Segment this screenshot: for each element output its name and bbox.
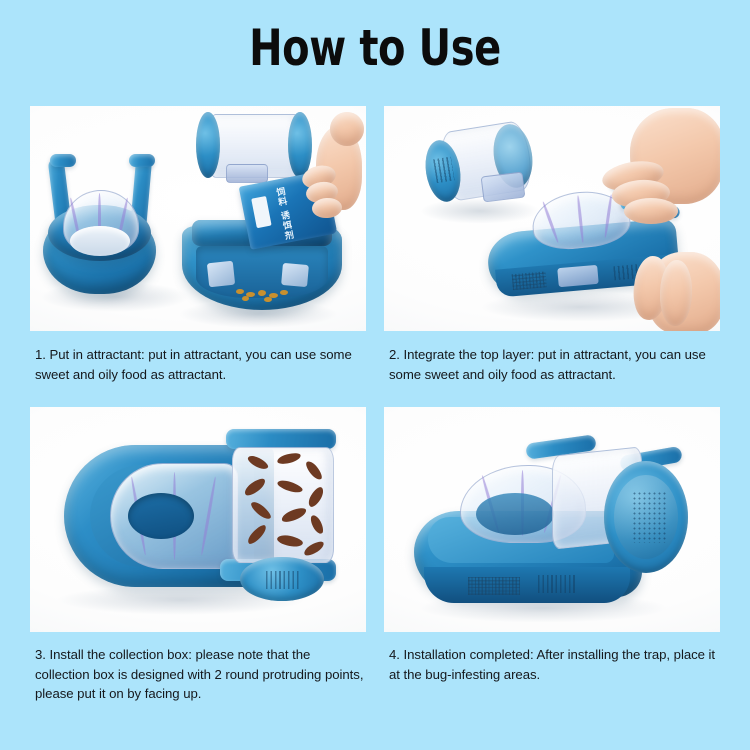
hand-upper-finger-ring — [624, 198, 678, 224]
captured-insect — [302, 539, 326, 558]
vent-slots-icon — [266, 571, 300, 589]
hand-thumb — [330, 112, 364, 146]
bait-tray-divider-right — [281, 263, 309, 287]
page-title: How to Use — [75, 18, 675, 78]
dome-ridge-c — [200, 476, 217, 555]
captured-insect — [249, 499, 273, 521]
collection-clip-top — [226, 429, 336, 449]
dome-ridge-c — [604, 194, 613, 238]
left-base-entry-hole — [70, 226, 130, 256]
captured-insect — [245, 523, 268, 547]
sachet-icon — [251, 196, 271, 228]
step-2-photo — [384, 106, 720, 331]
captured-insect — [276, 451, 301, 466]
captured-insect — [309, 514, 326, 536]
entry-hole — [476, 493, 554, 535]
step-item-4: 4. Installation completed: After install… — [384, 407, 720, 704]
cylinder-latch — [481, 172, 526, 203]
vent-slots-icon — [538, 575, 576, 593]
captured-insect — [280, 505, 308, 524]
step-4-caption: 4. Installation completed: After install… — [384, 632, 723, 684]
captured-insect — [242, 476, 267, 498]
captured-insect — [276, 533, 304, 548]
steps-grid: 饲料 诱饵剂 1. Put in attractant: put in attr… — [30, 106, 720, 704]
cylinder-cap-left — [196, 112, 220, 178]
step-item-3: 3. Install the collection box: please no… — [30, 407, 366, 704]
vent-mesh-icon — [468, 577, 520, 595]
entry-hole — [128, 493, 194, 539]
vent-dots-icon — [632, 491, 666, 543]
step-2-caption: 2. Integrate the top layer: put in attra… — [384, 331, 723, 407]
step-item-2: 2. Integrate the top layer: put in attra… — [384, 106, 720, 407]
dome-ridge-b — [576, 195, 584, 243]
step-1-photo: 饲料 诱饵剂 — [30, 106, 366, 331]
captured-insect — [246, 453, 270, 471]
captured-insect — [304, 459, 325, 482]
step-3-caption: 3. Install the collection box: please no… — [30, 632, 369, 704]
collection-box-cap — [240, 557, 324, 601]
step-3-photo — [30, 407, 366, 632]
cylinder-latch — [226, 164, 268, 183]
vent-mesh-icon — [512, 271, 547, 290]
sachet-label-text: 饲料 诱饵剂 — [274, 186, 294, 241]
vent-slots-icon — [433, 157, 455, 184]
captured-insect — [276, 478, 304, 495]
step-1-caption: 1. Put in attractant: put in attractant,… — [30, 331, 369, 407]
collection-box — [232, 447, 334, 563]
cylinder-shadow — [420, 198, 540, 224]
step-4-photo — [384, 407, 720, 632]
bait-tray-divider-left — [207, 261, 235, 288]
base-window — [557, 265, 599, 287]
captured-insect — [306, 485, 326, 509]
left-base-clip-right — [129, 154, 155, 167]
collection-box-cap — [604, 461, 688, 573]
dome-ridge-a — [542, 201, 560, 243]
assembled-skirt — [424, 567, 630, 603]
step-item-1: 饲料 诱饵剂 1. Put in attractant: put in attr… — [30, 106, 366, 407]
left-base-clip-left — [50, 154, 76, 167]
cylinder-cap-right — [288, 112, 312, 178]
